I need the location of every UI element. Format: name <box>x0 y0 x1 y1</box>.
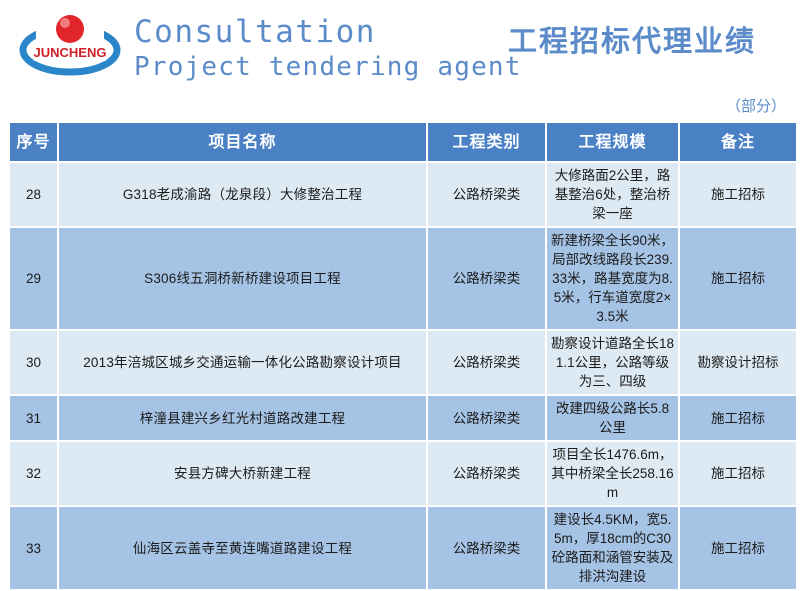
cell-project-name: 安县方碑大桥新建工程 <box>59 442 426 505</box>
cell-project-name: 仙海区云盖寺至黄连嘴道路建设工程 <box>59 507 426 589</box>
cell-note: 勘察设计招标 <box>680 331 796 394</box>
cell-category: 公路桥梁类 <box>428 442 545 505</box>
cell-scale: 项目全长1476.6m，其中桥梁全长258.16m <box>547 442 678 505</box>
cell-note: 施工招标 <box>680 228 796 329</box>
cell-serial-number: 30 <box>10 331 57 394</box>
cell-serial-number: 29 <box>10 228 57 329</box>
cell-serial-number: 32 <box>10 442 57 505</box>
table-row: 28G318老成渝路（龙泉段）大修整治工程公路桥梁类大修路面2公里，路基整治6处… <box>10 163 796 226</box>
partial-note: （部分） <box>726 95 786 116</box>
table-header: 序号 项目名称 工程类别 工程规模 备注 <box>10 123 796 161</box>
cell-note: 施工招标 <box>680 507 796 589</box>
note-row: （部分） <box>0 95 800 121</box>
cell-project-name: 梓潼县建兴乡红光村道路改建工程 <box>59 396 426 440</box>
cell-category: 公路桥梁类 <box>428 396 545 440</box>
table-row: 29S306线五洞桥新桥建设项目工程公路桥梁类新建桥梁全长90米，局部改线路段长… <box>10 228 796 329</box>
cell-scale: 大修路面2公里，路基整治6处，整治桥梁一座 <box>547 163 678 226</box>
performance-table-wrapper: 序号 项目名称 工程类别 工程规模 备注 28G318老成渝路（龙泉段）大修整治… <box>8 121 790 591</box>
cell-project-name: S306线五洞桥新桥建设项目工程 <box>59 228 426 329</box>
cell-serial-number: 31 <box>10 396 57 440</box>
cell-category: 公路桥梁类 <box>428 163 545 226</box>
cell-note: 施工招标 <box>680 163 796 226</box>
title-chinese: 工程招标代理业绩 <box>508 18 756 60</box>
cell-serial-number: 33 <box>10 507 57 589</box>
cell-note: 施工招标 <box>680 396 796 440</box>
svg-text:JUNCHENG: JUNCHENG <box>34 45 107 60</box>
table-body: 28G318老成渝路（龙泉段）大修整治工程公路桥梁类大修路面2公里，路基整治6处… <box>10 163 796 589</box>
cell-scale: 勘察设计道路全长181.1公里，公路等级为三、四级 <box>547 331 678 394</box>
column-header-no: 序号 <box>10 123 57 161</box>
column-header-note: 备注 <box>680 123 796 161</box>
cell-note: 施工招标 <box>680 442 796 505</box>
cell-scale: 新建桥梁全长90米，局部改线路段长239.33米，路基宽度为8.5米，行车道宽度… <box>547 228 678 329</box>
cell-category: 公路桥梁类 <box>428 228 545 329</box>
column-header-category: 工程类别 <box>428 123 545 161</box>
cell-scale: 建设长4.5KM，宽5.5m，厚18cm的C30砼路面和涵管安装及排洪沟建设 <box>547 507 678 589</box>
cell-category: 公路桥梁类 <box>428 507 545 589</box>
column-header-name: 项目名称 <box>59 123 426 161</box>
cell-project-name: G318老成渝路（龙泉段）大修整治工程 <box>59 163 426 226</box>
performance-record-page: JUNCHENG Consultation Project tendering … <box>0 0 800 565</box>
juncheng-logo: JUNCHENG <box>18 9 122 77</box>
performance-table: 序号 项目名称 工程类别 工程规模 备注 28G318老成渝路（龙泉段）大修整治… <box>8 121 798 591</box>
title-english-primary: Consultation <box>134 14 522 50</box>
page-header: JUNCHENG Consultation Project tendering … <box>0 0 800 95</box>
table-row: 302013年涪城区城乡交通运输一体化公路勘察设计项目公路桥梁类勘察设计道路全长… <box>10 331 796 394</box>
table-row: 32安县方碑大桥新建工程公路桥梁类项目全长1476.6m，其中桥梁全长258.1… <box>10 442 796 505</box>
cell-category: 公路桥梁类 <box>428 331 545 394</box>
column-header-scale: 工程规模 <box>547 123 678 161</box>
cell-scale: 改建四级公路长5.8公里 <box>547 396 678 440</box>
title-block: Consultation Project tendering agent <box>134 14 522 84</box>
table-row: 33仙海区云盖寺至黄连嘴道路建设工程公路桥梁类建设长4.5KM，宽5.5m，厚1… <box>10 507 796 589</box>
table-header-row: 序号 项目名称 工程类别 工程规模 备注 <box>10 123 796 161</box>
cell-serial-number: 28 <box>10 163 57 226</box>
title-english-secondary: Project tendering agent <box>134 50 522 84</box>
table-row: 31梓潼县建兴乡红光村道路改建工程公路桥梁类改建四级公路长5.8公里施工招标 <box>10 396 796 440</box>
cell-project-name: 2013年涪城区城乡交通运输一体化公路勘察设计项目 <box>59 331 426 394</box>
